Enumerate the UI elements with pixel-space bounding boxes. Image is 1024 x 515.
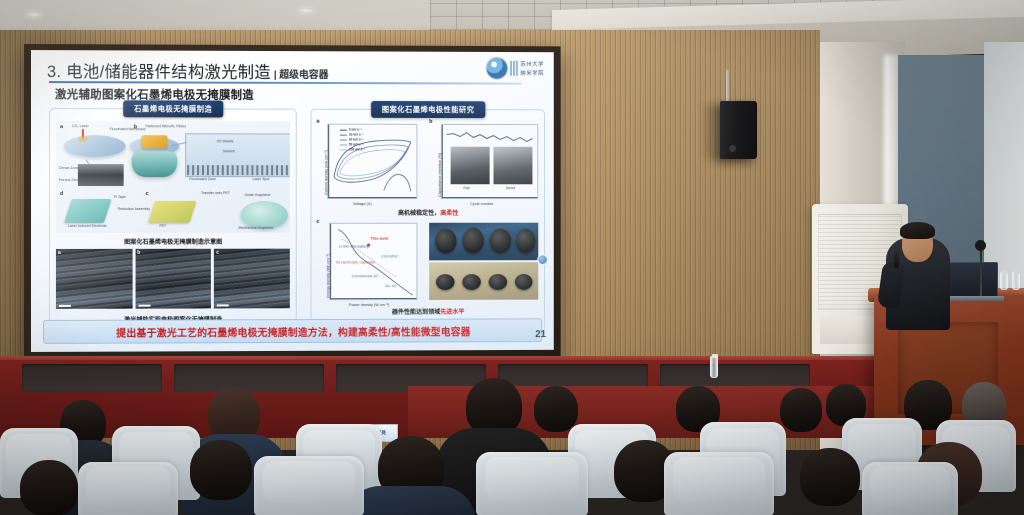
annotation-solvent: Solvent [223, 149, 235, 153]
podium-water-bottle [1000, 272, 1008, 290]
panel-left-badge: 石墨烯电极无掩膜制造 [123, 100, 223, 117]
lecture-hall-photo: 3. 电池/储能器件结构激光制造 | 超级电容器 苏州大学 纳米学院 激光辅助图… [0, 0, 1024, 515]
chart-ragone: This work Li thin film battery Al electr… [329, 223, 417, 300]
electrode-d [64, 199, 112, 223]
microphone-icon [975, 240, 986, 251]
inset-photo-flat [451, 147, 490, 185]
subfig-label-b: b [429, 119, 432, 125]
inset-photo-bend [494, 147, 533, 185]
sem-label-a: a [58, 250, 61, 256]
slide-page-number: 21 [535, 329, 546, 340]
slide-header: 3. 电池/储能器件结构激光制造 | 超级电容器 [47, 58, 542, 84]
seat [78, 462, 178, 515]
title-underline [49, 81, 522, 85]
slide-title-suffix: | 超级电容器 [274, 66, 329, 83]
ragone-ylabel: Energy density (Wh cm⁻³) [325, 254, 330, 299]
annotation-graphene-sheet: 2D Sheets [217, 139, 234, 143]
graphene-circle [241, 201, 288, 229]
projection-screen: 3. 电池/储能器件结构激光制造 | 超级电容器 苏州大学 纳米学院 激光辅助图… [24, 44, 561, 362]
caption-lower-plain: 器件性能达到领域 [392, 309, 440, 316]
university-seal-icon [486, 58, 506, 79]
gold-pad-b [142, 135, 168, 148]
subfig-label-a: a [60, 124, 63, 130]
seat [254, 456, 364, 515]
caption-upper-plain: 高机械稳定性， [398, 210, 440, 217]
panel-right-badge: 图案化石墨烯电极性能研究 [371, 101, 485, 118]
audience-head [780, 388, 822, 432]
annotation-mechanical-graphene: Mechanical Graphene [239, 226, 274, 230]
downlight-icon [298, 8, 314, 13]
podium-water-bottle [1012, 272, 1020, 290]
schematic-figure: a CO₂ Laser Fluorinated Membrane Dense Z… [56, 121, 290, 233]
scale-bar [59, 305, 71, 307]
handheld-microphone [894, 250, 899, 268]
stage-panel [22, 364, 162, 392]
inset-label-flat: Flat [463, 185, 469, 190]
inset-sem-a [78, 164, 124, 186]
left-figure-caption: 图案化石墨烯电极无掩膜制造示意图 [50, 237, 296, 246]
annotation-laser-spot: Laser Spot [252, 177, 269, 181]
annotation-laser-electrode: Laser Induced Electrode [68, 224, 107, 228]
logo-text: 苏州大学 纳米学院 [520, 60, 544, 77]
ragone-annotation-thiswork: This work [370, 236, 388, 241]
photo-electrodes-wet [429, 223, 538, 261]
logo-bars-icon [510, 61, 518, 76]
wall-speaker-icon [720, 101, 757, 159]
sem-label-c: c [216, 250, 219, 256]
annotation-co2-laser: CO₂ Laser [72, 124, 89, 128]
photo-electrodes-hand [429, 262, 538, 300]
subfig-label-c: c [316, 219, 319, 225]
subfig-label-d: d [60, 191, 63, 197]
speaker-mount-pole [726, 70, 729, 103]
sem-image-strip: a b c [56, 249, 290, 309]
caption-upper-highlight: 高柔性 [440, 210, 458, 217]
logo-line-1: 苏州大学 [520, 60, 544, 68]
sem-label-b: b [137, 250, 140, 256]
subfig-label-c: c [146, 191, 149, 197]
university-logo: 苏州大学 纳米学院 [486, 58, 544, 79]
bottle-cap [712, 354, 718, 358]
annotation-patterned-fibers: Patterned Micro/N. Fibers [146, 124, 187, 128]
cv-xlabel: Voltage (V) [353, 201, 372, 206]
right-caption-lower: 器件性能达到领域先进水平 [312, 307, 545, 317]
sem-image: a [56, 249, 132, 309]
slide-title: 3. 电池/储能器件结构激光制造 [47, 58, 271, 83]
bottle-cap [1002, 270, 1008, 274]
cycles-ylabel: Capacitance retention (%) [437, 153, 442, 197]
bottle-cap [1014, 270, 1020, 274]
annotation-reduction: Reduction Assembly [118, 207, 150, 211]
scale-bar [138, 305, 150, 307]
chart-cycle-retention: Flat Bend [441, 124, 538, 199]
beaker-icon [132, 151, 178, 177]
panel-fabrication: 石墨烯电极无掩膜制造 a CO₂ Laser Fluorinated Membr… [49, 108, 297, 340]
panel-performance: 图案化石墨烯电极性能研究 a 5 mV s⁻¹ 10 mV s⁻¹ 20 mV … [311, 109, 546, 339]
annotation-pi-tape: PI Tape [114, 195, 126, 199]
sem-image: c [214, 249, 290, 309]
subfig-label-b: b [134, 124, 137, 130]
annotation-pet: PET [159, 224, 166, 228]
inset-label-bend: Bend [506, 185, 515, 190]
ragone-annotation-alcap: Al electrolytic capacitor [336, 259, 375, 264]
annotation-porous-zone: Porous Zone [59, 178, 80, 182]
seat [476, 452, 588, 515]
scale-bar [217, 304, 229, 306]
conclusion-text: 提出基于激光工艺的石墨烯电极无掩膜制造方法，构建高柔性/高性能微型电容器 [116, 323, 470, 339]
annotation-dense-zone: Dense Zone [59, 166, 79, 170]
right-caption-upper: 高机械稳定性，高柔性 [312, 208, 545, 217]
cycles-xlabel: Cycle number [470, 201, 493, 206]
stage-panel [174, 364, 324, 392]
annotation-membrane: Fluorinated Membrane [110, 127, 146, 131]
slide-marker-icon [537, 254, 548, 265]
ragone-annotation-li: Li thin film battery [339, 244, 369, 249]
seat [862, 462, 958, 515]
conclusion-banner: 提出基于激光工艺的石墨烯电极无掩膜制造方法，构建高柔性/高性能微型电容器 [43, 318, 542, 344]
cv-ylabel: Current density (mA cm⁻²) [323, 150, 328, 195]
chart-cv-curve: 5 mV s⁻¹ 10 mV s⁻¹ 20 mV s⁻¹ 50 mV s⁻¹ 1… [327, 124, 417, 199]
presenter-hair [900, 222, 935, 239]
annotation-oxide-graphene: Oxide Graphene [244, 193, 270, 197]
audience-head [20, 460, 78, 515]
downlight-icon [26, 12, 42, 17]
caption-lower-highlight: 先进水平 [440, 309, 464, 316]
logo-line-2: 纳米学院 [520, 69, 544, 77]
water-bottle [710, 356, 718, 378]
annotation-transfer-pet: Transfer onto PET [201, 191, 230, 195]
seat [664, 452, 774, 515]
subfig-label-a: a [316, 119, 319, 125]
audience-head [534, 386, 578, 432]
wafer-a [64, 135, 126, 157]
electrode-c [148, 201, 197, 223]
ragone-annotation-acsc: AC-SC [385, 283, 397, 288]
annotation-fluorinated-layer: Fluorinated Zone [189, 177, 216, 181]
chart-legend: 5 mV s⁻¹ 10 mV s⁻¹ 20 mV s⁻¹ 50 mV s⁻¹ 1… [340, 128, 365, 152]
audience-head [800, 448, 860, 506]
microphone-stand [980, 248, 982, 296]
presentation-slide: 3. 电池/储能器件结构激光制造 | 超级电容器 苏州大学 纳米学院 激光辅助图… [31, 50, 554, 352]
ragone-annotation-csc: Commercial SC [352, 273, 379, 278]
ragone-annotation-lsg: LSG-MSC [381, 253, 398, 258]
audience-head [190, 440, 252, 500]
sem-image: b [135, 249, 211, 309]
